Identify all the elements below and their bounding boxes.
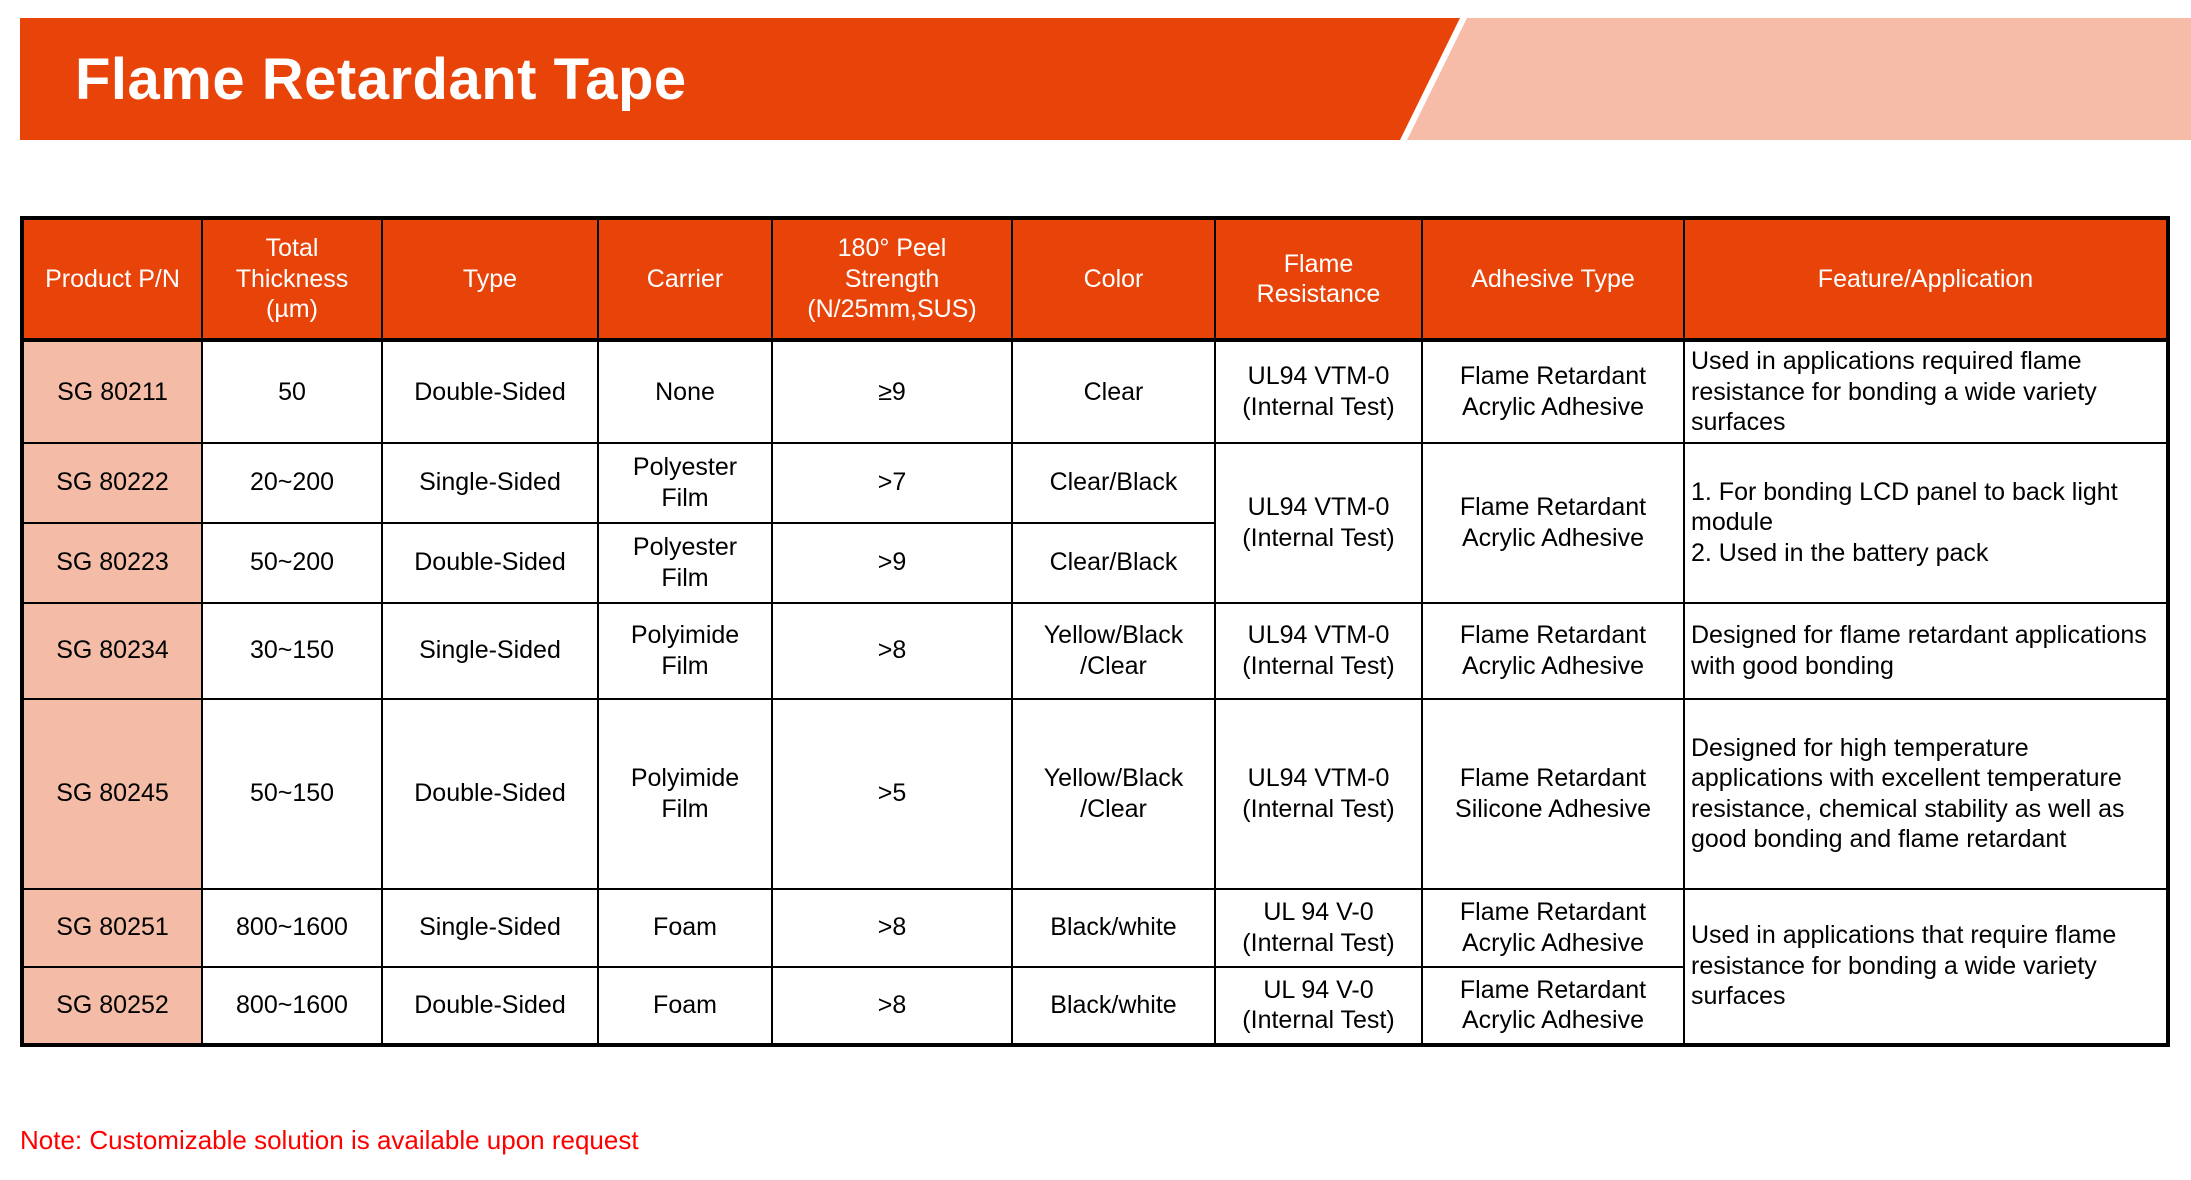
header-line: Type [463,265,517,293]
cell-total-thickness: 800~1600 [202,889,382,967]
cell-color: Clear/Black [1012,523,1215,603]
column-header-color: Color [1012,218,1215,340]
cell-product-pn: SG 80252 [22,967,202,1045]
column-header-flame-resistance: Flame Resistance [1215,218,1422,340]
cell-adhesive-type: Flame Retardant Acrylic Adhesive [1422,967,1684,1045]
cell-line: Acrylic Adhesive [1462,393,1644,421]
cell-carrier: Foam [598,967,772,1045]
page-banner: Flame Retardant Tape [0,18,2191,140]
cell-feature-application: 1. For bonding LCD panel to back light m… [1684,443,2168,603]
cell-type: Single-Sided [382,443,598,523]
table-header-row: Product P/N Total Thickness (µm) Type Ca… [22,218,2168,340]
header-line: Strength [845,265,940,293]
header-line: Color [1084,265,1144,293]
cell-product-pn: SG 80211 [22,340,202,443]
cell-line: UL 94 V-0 [1263,976,1373,1004]
cell-adhesive-type: Flame Retardant Acrylic Adhesive [1422,889,1684,967]
cell-line: Flame Retardant [1460,621,1646,649]
table-row: SG 80251 800~1600 Single-Sided Foam >8 B… [22,889,2168,967]
cell-type: Double-Sided [382,340,598,443]
header-line: Feature/Application [1818,265,2033,293]
cell-peel-strength: >8 [772,967,1012,1045]
header-line: (N/25mm,SUS) [807,295,976,323]
column-header-peel-strength: 180° Peel Strength (N/25mm,SUS) [772,218,1012,340]
cell-line: Film [661,484,708,512]
cell-line: Flame Retardant [1460,898,1646,926]
cell-line: UL94 VTM-0 [1248,493,1390,521]
cell-color: Yellow/Black /Clear [1012,699,1215,889]
cell-peel-strength: >5 [772,699,1012,889]
cell-feature-application: Used in applications required flame resi… [1684,340,2168,443]
cell-product-pn: SG 80245 [22,699,202,889]
cell-carrier: Foam [598,889,772,967]
cell-type: Single-Sided [382,889,598,967]
page-title: Flame Retardant Tape [75,18,687,140]
cell-adhesive-type: Flame Retardant Acrylic Adhesive [1422,443,1684,603]
cell-type: Double-Sided [382,967,598,1045]
cell-peel-strength: >7 [772,443,1012,523]
cell-color: Black/white [1012,967,1215,1045]
cell-adhesive-type: Flame Retardant Silicone Adhesive [1422,699,1684,889]
cell-line: (Internal Test) [1242,795,1394,823]
cell-feature-application: Designed for high temperature applicatio… [1684,699,2168,889]
column-header-adhesive-type: Adhesive Type [1422,218,1684,340]
cell-type: Double-Sided [382,523,598,603]
cell-carrier: Polyimide Film [598,699,772,889]
column-header-product-pn: Product P/N [22,218,202,340]
header-line: Resistance [1257,280,1381,308]
cell-carrier: Polyester Film [598,523,772,603]
cell-line: Flame Retardant [1460,362,1646,390]
cell-flame-resistance: UL 94 V-0 (Internal Test) [1215,889,1422,967]
header-line: (µm) [266,295,318,323]
cell-total-thickness: 50 [202,340,382,443]
cell-color: Clear/Black [1012,443,1215,523]
cell-color: Clear [1012,340,1215,443]
cell-line: Flame Retardant [1460,976,1646,1004]
header-line: Carrier [647,265,723,293]
cell-product-pn: SG 80222 [22,443,202,523]
flame-retardant-tape-spec-table: Product P/N Total Thickness (µm) Type Ca… [20,216,2170,1047]
cell-line: Flame Retardant [1460,764,1646,792]
cell-line: Acrylic Adhesive [1462,652,1644,680]
cell-flame-resistance: UL94 VTM-0 (Internal Test) [1215,603,1422,699]
cell-line: 2. Used in the battery pack [1691,539,1988,567]
cell-line: Film [661,652,708,680]
cell-product-pn: SG 80234 [22,603,202,699]
cell-peel-strength: >8 [772,603,1012,699]
cell-type: Single-Sided [382,603,598,699]
cell-line: Film [661,564,708,592]
cell-line: Acrylic Adhesive [1462,929,1644,957]
header-line: Total [266,234,319,262]
cell-peel-strength: ≥9 [772,340,1012,443]
column-header-type: Type [382,218,598,340]
cell-flame-resistance: UL94 VTM-0 (Internal Test) [1215,443,1422,603]
cell-total-thickness: 20~200 [202,443,382,523]
cell-line: /Clear [1080,795,1147,823]
cell-line: (Internal Test) [1242,524,1394,552]
column-header-feature-application: Feature/Application [1684,218,2168,340]
cell-line: UL 94 V-0 [1263,898,1373,926]
header-line: Thickness [236,265,349,293]
cell-color: Yellow/Black /Clear [1012,603,1215,699]
cell-carrier: None [598,340,772,443]
cell-feature-application: Designed for flame retardant application… [1684,603,2168,699]
cell-adhesive-type: Flame Retardant Acrylic Adhesive [1422,340,1684,443]
column-header-total-thickness: Total Thickness (µm) [202,218,382,340]
cell-line: Yellow/Black [1044,621,1183,649]
footnote-text: Note: Customizable solution is available… [20,1125,639,1156]
cell-line: UL94 VTM-0 [1248,764,1390,792]
cell-line: (Internal Test) [1242,652,1394,680]
cell-line: Polyester [633,533,737,561]
cell-line: Polyimide [631,764,739,792]
cell-line: Polyimide [631,621,739,649]
cell-flame-resistance: UL 94 V-0 (Internal Test) [1215,967,1422,1045]
cell-line: (Internal Test) [1242,1006,1394,1034]
table-row: SG 80211 50 Double-Sided None ≥9 Clear U… [22,340,2168,443]
header-line: Product P/N [45,265,180,293]
cell-adhesive-type: Flame Retardant Acrylic Adhesive [1422,603,1684,699]
column-header-carrier: Carrier [598,218,772,340]
cell-line: (Internal Test) [1242,929,1394,957]
cell-carrier: Polyimide Film [598,603,772,699]
cell-line: Acrylic Adhesive [1462,524,1644,552]
header-line: 180° Peel [838,234,947,262]
cell-carrier: Polyester Film [598,443,772,523]
cell-peel-strength: >9 [772,523,1012,603]
cell-line: /Clear [1080,652,1147,680]
cell-line: Silicone Adhesive [1455,795,1651,823]
header-line: Adhesive Type [1471,265,1635,293]
table-row: SG 80245 50~150 Double-Sided Polyimide F… [22,699,2168,889]
cell-flame-resistance: UL94 VTM-0 (Internal Test) [1215,699,1422,889]
cell-line: Polyester [633,453,737,481]
cell-type: Double-Sided [382,699,598,889]
cell-product-pn: SG 80251 [22,889,202,967]
table-row: SG 80222 20~200 Single-Sided Polyester F… [22,443,2168,523]
table-row: SG 80234 30~150 Single-Sided Polyimide F… [22,603,2168,699]
cell-total-thickness: 50~200 [202,523,382,603]
cell-line: UL94 VTM-0 [1248,621,1390,649]
banner-peach-shape [1382,18,2191,140]
cell-peel-strength: >8 [772,889,1012,967]
cell-line: Yellow/Black [1044,764,1183,792]
cell-line: 1. For bonding LCD panel to back light m… [1691,478,2118,537]
header-line: Flame [1284,250,1353,278]
spec-table-container: Product P/N Total Thickness (µm) Type Ca… [20,216,2170,1047]
cell-product-pn: SG 80223 [22,523,202,603]
cell-line: Flame Retardant [1460,493,1646,521]
cell-feature-application: Used in applications that require flame … [1684,889,2168,1045]
cell-color: Black/white [1012,889,1215,967]
cell-line: (Internal Test) [1242,393,1394,421]
cell-total-thickness: 30~150 [202,603,382,699]
cell-flame-resistance: UL94 VTM-0 (Internal Test) [1215,340,1422,443]
cell-total-thickness: 800~1600 [202,967,382,1045]
cell-line: UL94 VTM-0 [1248,362,1390,390]
cell-line: Film [661,795,708,823]
cell-total-thickness: 50~150 [202,699,382,889]
cell-line: Acrylic Adhesive [1462,1006,1644,1034]
